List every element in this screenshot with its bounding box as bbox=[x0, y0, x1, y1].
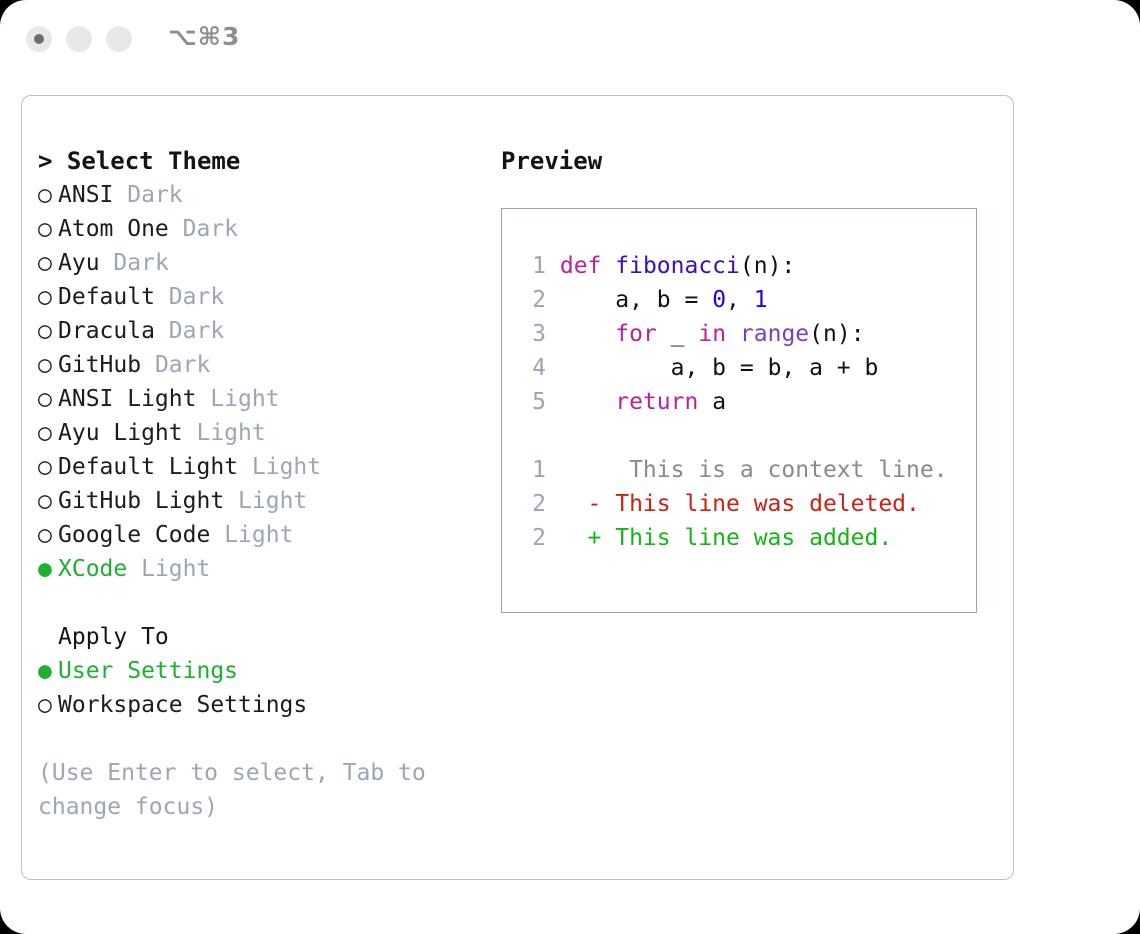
theme-variant-tag: Light bbox=[224, 522, 293, 548]
diff-line-number: 2 bbox=[524, 521, 546, 555]
code-line-number: 3 bbox=[524, 317, 546, 351]
code-token-plain: (n): bbox=[809, 321, 864, 347]
main-panel: > Select Theme ○ANSI Dark○Atom One Dark○… bbox=[21, 95, 1014, 880]
code-line-number: 5 bbox=[524, 385, 546, 419]
apply-to-option-label: User Settings bbox=[58, 658, 238, 684]
diff-line: 1 This is a context line. bbox=[502, 453, 976, 487]
theme-list: ○ANSI Dark○Atom One Dark○Ayu Dark○Defaul… bbox=[38, 178, 488, 586]
code-line: 3 for _ in range(n): bbox=[502, 317, 976, 351]
theme-variant-tag: Dark bbox=[113, 250, 168, 276]
code-token-keyword: return bbox=[615, 389, 698, 415]
theme-name: Google Code bbox=[58, 522, 210, 548]
app-window: ⌥⌘3 > Select Theme ○ANSI Dark○Atom One D… bbox=[0, 0, 1140, 934]
code-token-plain bbox=[726, 321, 740, 347]
theme-variant-tag: Dark bbox=[155, 352, 210, 378]
theme-variant-tag: Light bbox=[238, 488, 307, 514]
radio-empty-icon: ○ bbox=[38, 688, 58, 722]
code-line-number: 2 bbox=[524, 283, 546, 317]
apply-to-option[interactable]: ●User Settings bbox=[38, 654, 488, 688]
theme-list-item[interactable]: ○GitHub Light Light bbox=[38, 484, 488, 518]
theme-selection-column: > Select Theme ○ANSI Dark○Atom One Dark○… bbox=[38, 144, 488, 824]
theme-name: GitHub bbox=[58, 352, 141, 378]
theme-name: XCode bbox=[58, 556, 127, 582]
radio-empty-icon: ○ bbox=[38, 246, 58, 280]
zoom-dot-icon[interactable] bbox=[106, 26, 132, 52]
code-token-plain: _ bbox=[657, 321, 699, 347]
code-token-plain: a, b = b, a + b bbox=[560, 355, 879, 381]
radio-empty-icon: ○ bbox=[38, 212, 58, 246]
theme-variant-tag: Light bbox=[196, 420, 265, 446]
theme-name: Atom One bbox=[58, 216, 169, 242]
code-line-number: 1 bbox=[524, 249, 546, 283]
diff-line-text-context: This is a context line. bbox=[546, 457, 948, 483]
radio-empty-icon: ○ bbox=[38, 450, 58, 484]
theme-list-item[interactable]: ○Dracula Dark bbox=[38, 314, 488, 348]
radio-selected-icon: ● bbox=[38, 654, 58, 688]
code-token-plain bbox=[560, 389, 615, 415]
apply-to-option-label: Workspace Settings bbox=[58, 692, 307, 718]
theme-list-item[interactable]: ○ANSI Dark bbox=[38, 178, 488, 212]
code-token-plain: a bbox=[698, 389, 726, 415]
keyboard-shortcut-label: ⌥⌘3 bbox=[168, 22, 240, 51]
code-token-function: fibonacci bbox=[615, 253, 740, 279]
theme-name: Ayu Light bbox=[58, 420, 183, 446]
theme-name: Default Light bbox=[58, 454, 238, 480]
apply-to-options: ●User Settings○Workspace Settings bbox=[38, 654, 488, 722]
diff-line: 2 - This line was deleted. bbox=[502, 487, 976, 521]
keyboard-hint-text: (Use Enter to select, Tab to change focu… bbox=[38, 756, 448, 824]
diff-line-text-added: + This line was added. bbox=[546, 525, 892, 551]
theme-list-item[interactable]: ○Ayu Light Light bbox=[38, 416, 488, 450]
theme-name: GitHub Light bbox=[58, 488, 224, 514]
code-line: 5 return a bbox=[502, 385, 976, 419]
radio-empty-icon: ○ bbox=[38, 314, 58, 348]
preview-box: 1 def fibonacci(n):2 a, b = 0, 13 for _ … bbox=[501, 208, 977, 613]
radio-selected-icon: ● bbox=[38, 552, 58, 586]
radio-empty-icon: ○ bbox=[38, 178, 58, 212]
radio-empty-icon: ○ bbox=[38, 518, 58, 552]
code-token-keyword: for bbox=[615, 321, 657, 347]
theme-variant-tag: Dark bbox=[169, 284, 224, 310]
window-titlebar: ⌥⌘3 bbox=[0, 0, 1140, 78]
theme-list-item[interactable]: ○Google Code Light bbox=[38, 518, 488, 552]
theme-list-item[interactable]: ○GitHub Dark bbox=[38, 348, 488, 382]
theme-name: ANSI Light bbox=[58, 386, 196, 412]
diff-sample: 1 This is a context line.2 - This line w… bbox=[502, 453, 976, 555]
preview-heading: Preview bbox=[501, 144, 991, 178]
code-token-keyword: in bbox=[698, 321, 726, 347]
theme-variant-tag: Dark bbox=[169, 318, 224, 344]
theme-list-item[interactable]: ○ANSI Light Light bbox=[38, 382, 488, 416]
radio-empty-icon: ○ bbox=[38, 280, 58, 314]
theme-list-item[interactable]: ●XCode Light bbox=[38, 552, 488, 586]
apply-to-option[interactable]: ○Workspace Settings bbox=[38, 688, 488, 722]
code-token-plain: , bbox=[726, 287, 754, 313]
apply-to-block: Apply To ●User Settings○Workspace Settin… bbox=[38, 620, 488, 722]
code-token-number: 0 bbox=[712, 287, 726, 313]
theme-list-item[interactable]: ○Default Light Light bbox=[38, 450, 488, 484]
theme-name: Dracula bbox=[58, 318, 155, 344]
theme-variant-tag: Light bbox=[252, 454, 321, 480]
code-sample: 1 def fibonacci(n):2 a, b = 0, 13 for _ … bbox=[502, 249, 976, 419]
close-dot-icon[interactable] bbox=[26, 26, 52, 52]
code-token-keyword: def bbox=[560, 253, 615, 279]
diff-line-number: 2 bbox=[524, 487, 546, 521]
code-token-plain: a, b = bbox=[560, 287, 712, 313]
select-theme-heading: > Select Theme bbox=[38, 144, 488, 178]
code-line: 4 a, b = b, a + b bbox=[502, 351, 976, 385]
apply-to-heading: Apply To bbox=[38, 620, 488, 654]
theme-variant-tag: Dark bbox=[183, 216, 238, 242]
theme-list-item[interactable]: ○Ayu Dark bbox=[38, 246, 488, 280]
radio-empty-icon: ○ bbox=[38, 348, 58, 382]
code-line-number: 4 bbox=[524, 351, 546, 385]
diff-line-number: 1 bbox=[524, 453, 546, 487]
code-token-plain: (n): bbox=[740, 253, 795, 279]
theme-variant-tag: Light bbox=[141, 556, 210, 582]
code-token-plain bbox=[560, 321, 615, 347]
radio-empty-icon: ○ bbox=[38, 416, 58, 450]
theme-list-item[interactable]: ○Atom One Dark bbox=[38, 212, 488, 246]
theme-name: Default bbox=[58, 284, 155, 310]
code-token-builtin: range bbox=[740, 321, 809, 347]
theme-name: ANSI bbox=[58, 182, 113, 208]
radio-empty-icon: ○ bbox=[38, 484, 58, 518]
code-token-number: 1 bbox=[754, 287, 768, 313]
theme-variant-tag: Dark bbox=[127, 182, 182, 208]
radio-empty-icon: ○ bbox=[38, 382, 58, 416]
preview-column: Preview 1 def fibonacci(n):2 a, b = 0, 1… bbox=[501, 144, 991, 613]
theme-variant-tag: Light bbox=[210, 386, 279, 412]
diff-line-text-removed: - This line was deleted. bbox=[546, 491, 920, 517]
theme-list-item[interactable]: ○Default Dark bbox=[38, 280, 488, 314]
minimize-dot-icon[interactable] bbox=[66, 26, 92, 52]
diff-line: 2 + This line was added. bbox=[502, 521, 976, 555]
code-line: 2 a, b = 0, 1 bbox=[502, 283, 976, 317]
theme-name: Ayu bbox=[58, 250, 100, 276]
code-line: 1 def fibonacci(n): bbox=[502, 249, 976, 283]
